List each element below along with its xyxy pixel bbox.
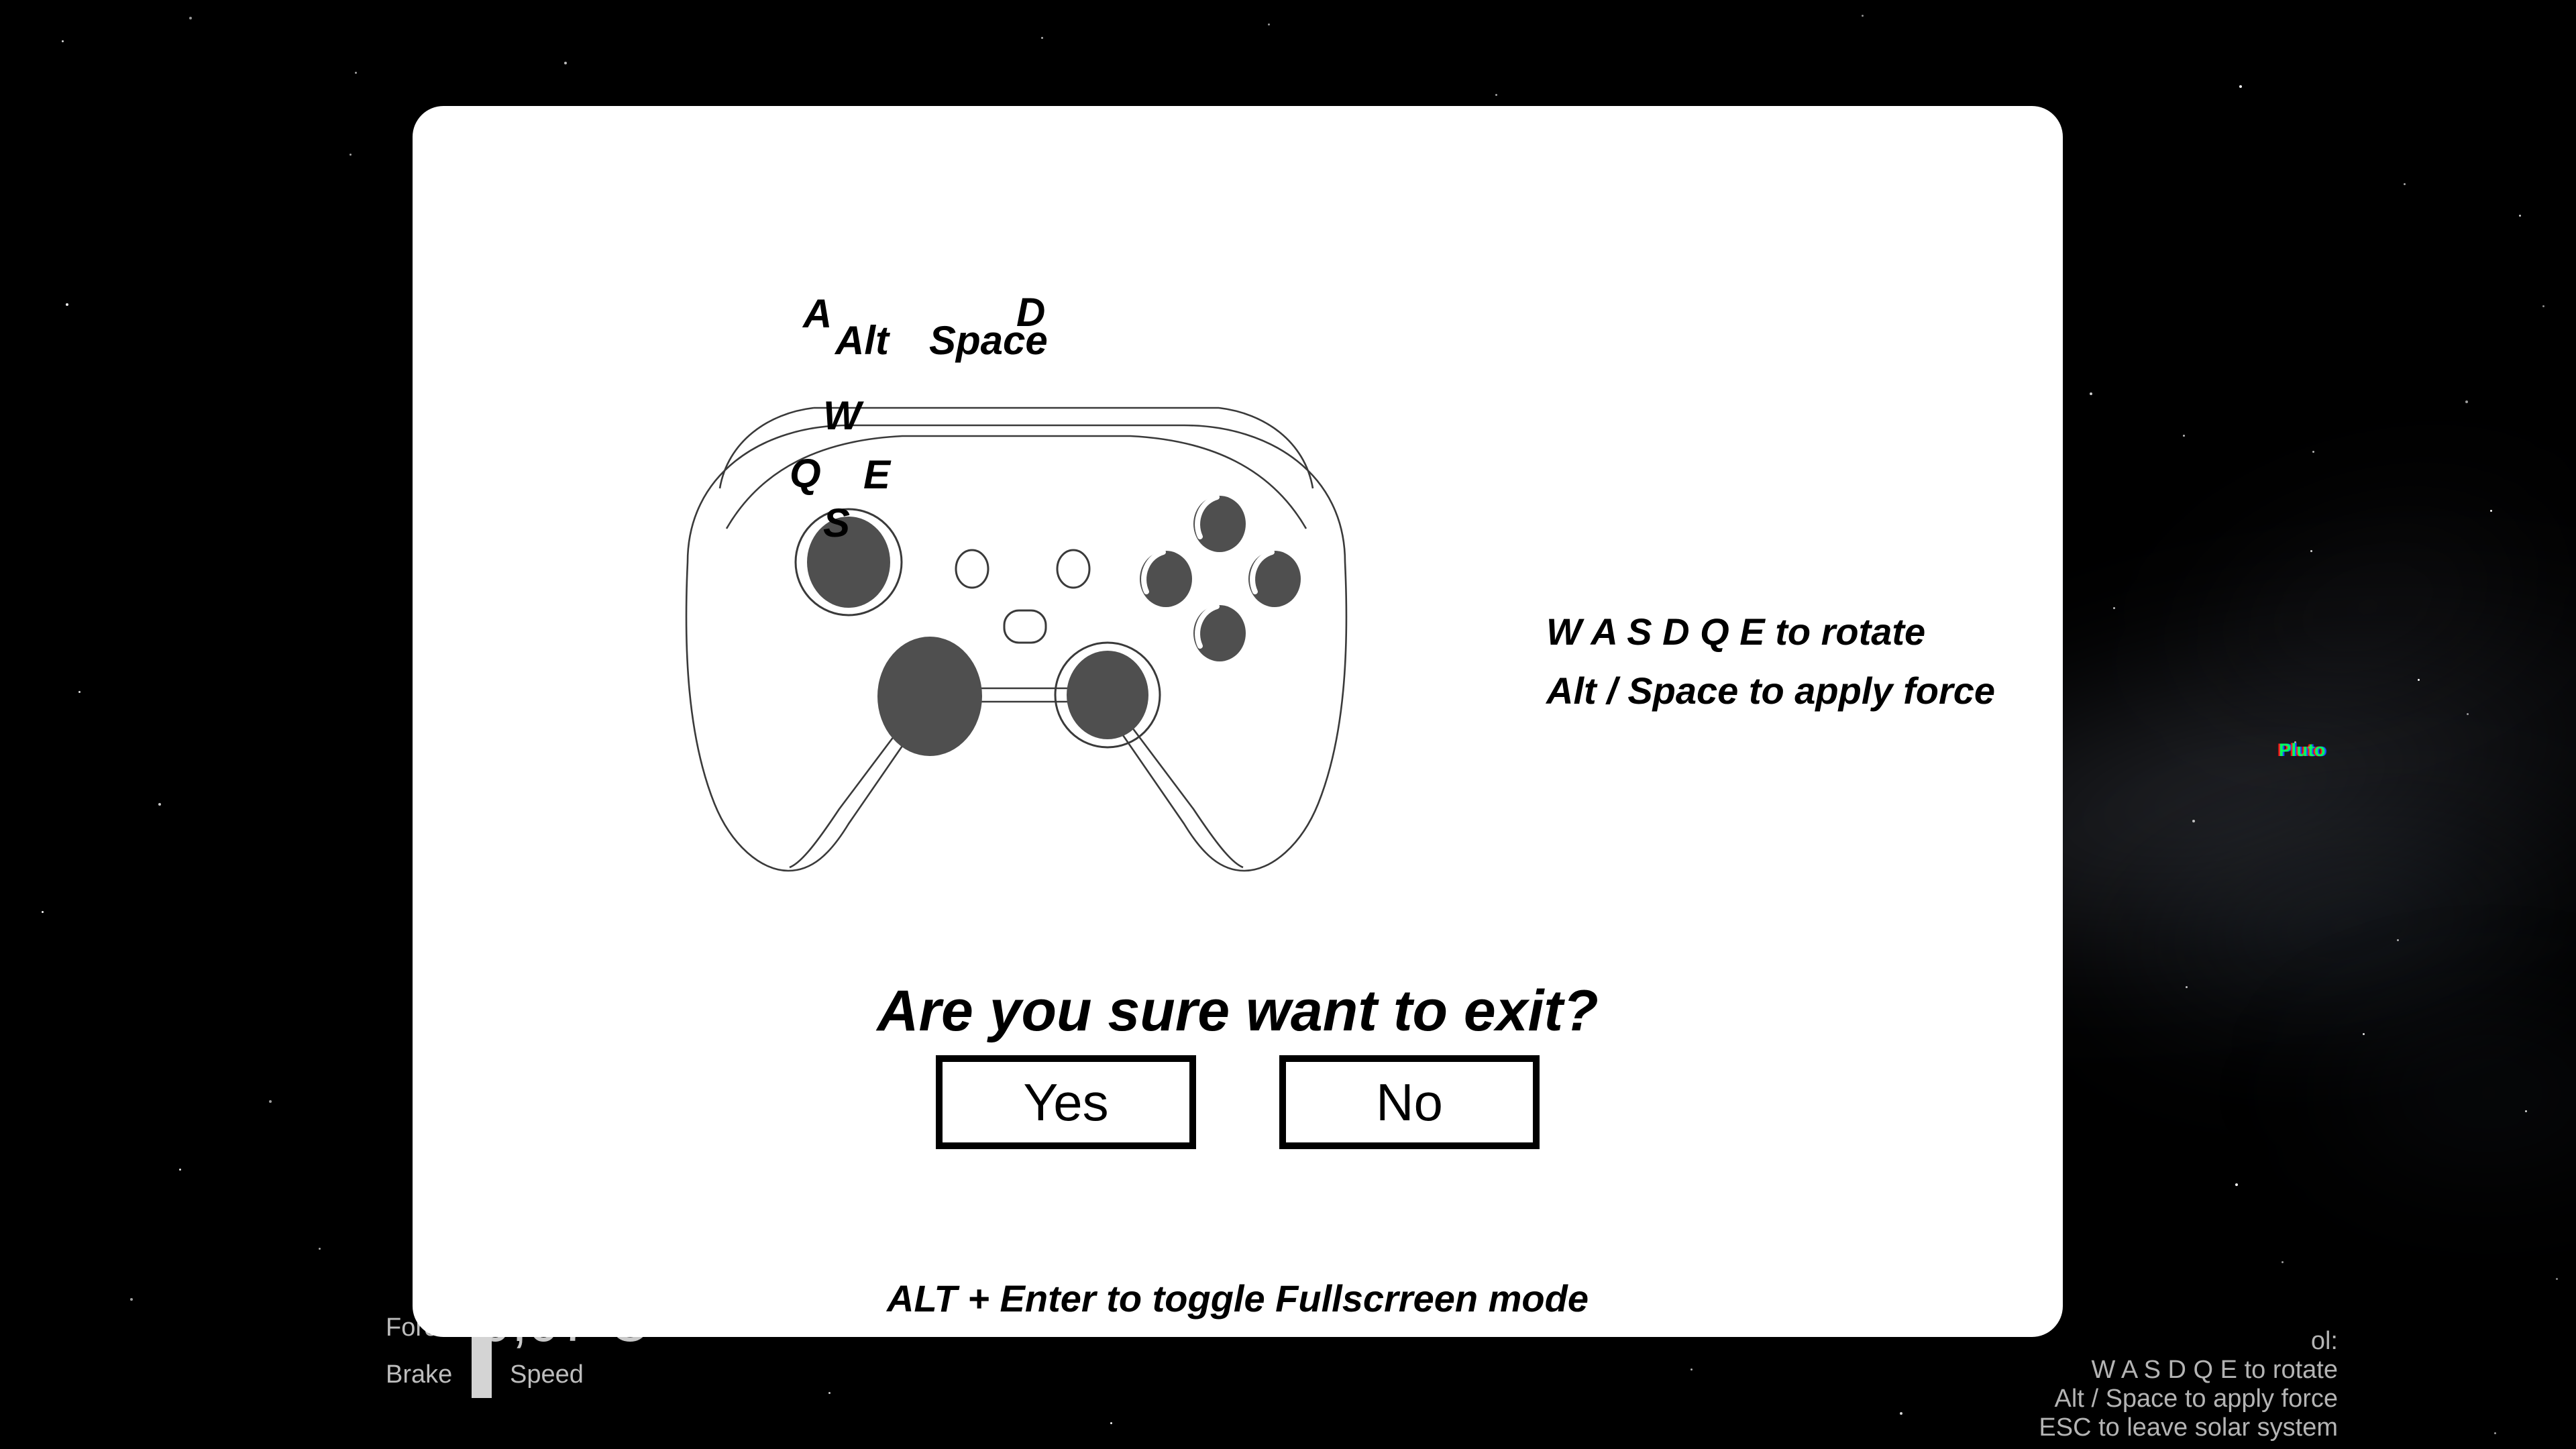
instruction-line-rotate: W A S D Q E to rotate [1546, 602, 2043, 661]
keycap-label-d: D [1016, 292, 1045, 333]
star [2525, 1110, 2527, 1112]
star [2090, 392, 2092, 395]
star [2282, 1261, 2284, 1263]
star [1690, 1368, 1693, 1371]
star [189, 17, 192, 19]
face-button-x [1140, 551, 1192, 607]
face-button-b [1248, 551, 1301, 607]
yes-button[interactable]: Yes [936, 1055, 1196, 1149]
gamepad-body-outline [686, 425, 1346, 871]
star [355, 72, 357, 74]
star [66, 303, 68, 306]
star [564, 62, 567, 64]
gamepad-diagram [647, 361, 1385, 898]
star [1495, 94, 1497, 96]
star [2186, 986, 2188, 988]
nebula-cloud [2110, 429, 2576, 785]
game-screen: Pluto 0,07 C Force Brake Speed ol: W A S… [0, 0, 2576, 1449]
face-buttons [1140, 496, 1301, 661]
dpad-disc [877, 637, 982, 756]
star [2542, 305, 2544, 307]
keycap-label-alt: Alt [835, 321, 889, 361]
face-button-y [1193, 496, 1246, 552]
star [269, 1100, 272, 1103]
star [42, 911, 44, 913]
exit-confirm-question: Are you sure want to exit? [413, 978, 2063, 1044]
instruction-line-force: Alt / Space to apply force [1546, 661, 2043, 720]
star [1900, 1412, 1902, 1415]
face-button-a [1193, 605, 1246, 661]
star [1862, 15, 1864, 17]
star [2192, 820, 2195, 822]
star [2239, 85, 2242, 88]
star [130, 1298, 133, 1301]
star [2312, 451, 2314, 453]
fullscreen-hint: ALT + Enter to toggle Fullscrreen mode [413, 1277, 2063, 1320]
keycap-label-q: Q [790, 453, 821, 494]
keycap-label-e: E [863, 455, 890, 495]
no-button[interactable]: No [1279, 1055, 1540, 1149]
keycap-label-a: A [803, 294, 832, 334]
star [319, 1248, 321, 1250]
star [2113, 607, 2115, 609]
star [350, 154, 352, 156]
star [2397, 939, 2399, 941]
star [62, 40, 64, 42]
right-stick-cap [1067, 651, 1148, 739]
right-bumper-outline [1219, 408, 1313, 488]
star [2235, 1183, 2238, 1186]
star [2310, 550, 2312, 552]
view-button [956, 550, 988, 588]
rotation-instructions: W A S D Q E to rotate Alt / Space to app… [1546, 602, 2043, 721]
nebula-cloud [2281, 993, 2576, 1194]
star [1110, 1422, 1112, 1424]
star [2418, 679, 2420, 681]
exit-confirmation-dialog: A Alt Space D W Q E S W A S D Q E to rot… [413, 106, 2063, 1337]
menu-button [1057, 550, 1089, 588]
star [2519, 215, 2521, 217]
star [2556, 1278, 2558, 1280]
star [828, 1392, 830, 1394]
star [1041, 37, 1043, 39]
nebula-cloud [2031, 751, 2576, 1100]
star [179, 1169, 181, 1171]
star [2465, 400, 2468, 403]
star [2294, 741, 2296, 743]
star [2490, 510, 2492, 512]
star [78, 691, 80, 693]
keycap-label-w: W [823, 396, 861, 436]
star [1268, 23, 1270, 25]
star [2363, 1033, 2365, 1035]
star [2183, 435, 2185, 437]
gamepad-grip-inner-line [790, 688, 1243, 867]
star [2494, 1432, 2496, 1434]
star [158, 803, 161, 806]
dialog-button-row: Yes No [413, 1055, 2063, 1149]
star [2467, 713, 2469, 715]
keycap-label-s: S [823, 503, 850, 543]
share-button [1004, 610, 1046, 643]
star [2404, 183, 2406, 185]
